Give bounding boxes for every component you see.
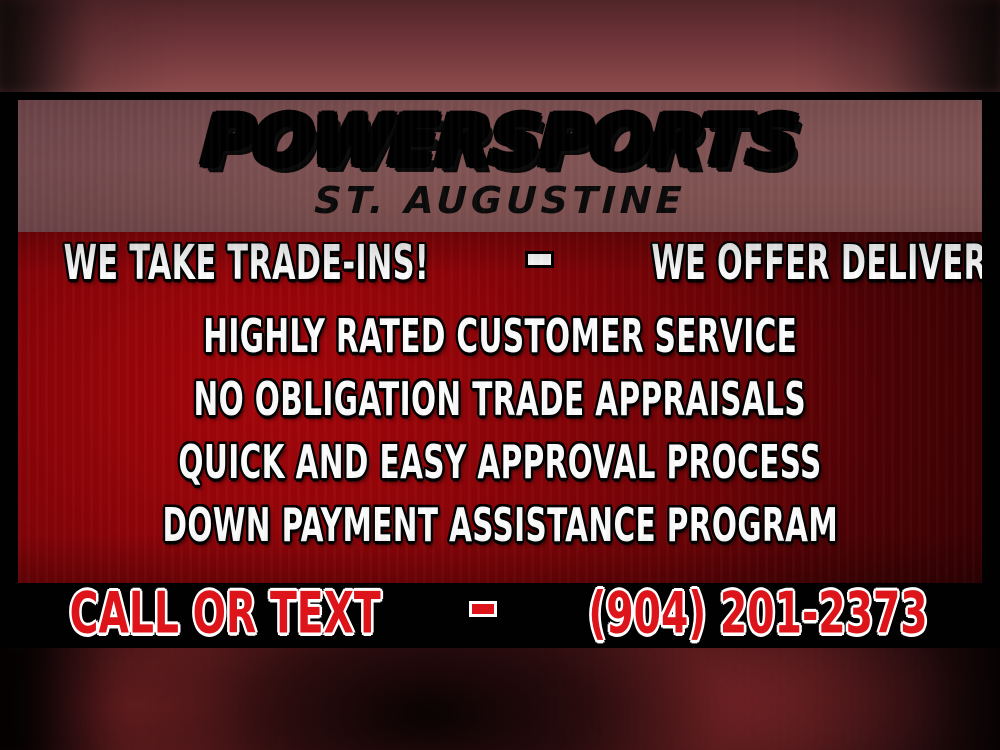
feature-row-trade-ins: WE TAKE TRADE-INS! WE OFFER DELIVERY!	[18, 238, 982, 287]
feature-row-customer-service: HIGHLY RATED CUSTOMER SERVICE	[18, 312, 982, 360]
feature-row-approval-process: QUICK AND EASY APPROVAL PROCESS	[18, 438, 982, 486]
brand-wordmark: POWERSPORTS	[18, 108, 982, 176]
blurred-background-top	[0, 0, 1000, 92]
feature-row-down-payment: DOWN PAYMENT ASSISTANCE PROGRAM	[18, 501, 982, 549]
feature-row-trade-appraisals: NO OBLIGATION TRADE APPRAISALS	[18, 375, 982, 423]
bottom-band-vignette	[0, 648, 1000, 750]
feature-trade-ins-label: WE TAKE TRADE-INS!	[64, 235, 429, 291]
logo-panel: POWERSPORTS ST. AUGUSTINE	[18, 100, 982, 232]
top-band-vignette	[0, 0, 1000, 92]
contact-bar: CALL OR TEXT (904) 201-2373	[0, 583, 1000, 648]
feature-down-payment-label: DOWN PAYMENT ASSISTANCE PROGRAM	[162, 498, 838, 553]
advertisement-banner: POWERSPORTS ST. AUGUSTINE WE TAKE TRADE-…	[0, 0, 1000, 750]
call-or-text-label: CALL OR TEXT	[70, 580, 381, 648]
brand-location-text: ST. AUGUSTINE	[314, 182, 686, 219]
contact-separator-dash-icon	[469, 601, 497, 617]
feature-delivery-label: WE OFFER DELIVERY!	[651, 235, 982, 291]
blurred-background-bottom	[0, 648, 1000, 750]
brand-name-text: POWERSPORTS	[201, 108, 799, 176]
feature-trade-appraisals-label: NO OBLIGATION TRADE APPRAISALS	[194, 372, 806, 427]
separator-dash-icon	[525, 251, 554, 268]
feature-approval-process-label: QUICK AND EASY APPROVAL PROCESS	[178, 435, 821, 490]
ad-card: POWERSPORTS ST. AUGUSTINE WE TAKE TRADE-…	[0, 92, 1000, 648]
phone-number-link[interactable]: (904) 201-2373	[588, 580, 927, 648]
contact-bar-inner: CALL OR TEXT (904) 201-2373	[0, 583, 1000, 645]
features-panel: WE TAKE TRADE-INS! WE OFFER DELIVERY! HI…	[18, 232, 982, 583]
brand-location: ST. AUGUSTINE	[18, 182, 982, 219]
feature-customer-service-label: HIGHLY RATED CUSTOMER SERVICE	[203, 309, 797, 364]
